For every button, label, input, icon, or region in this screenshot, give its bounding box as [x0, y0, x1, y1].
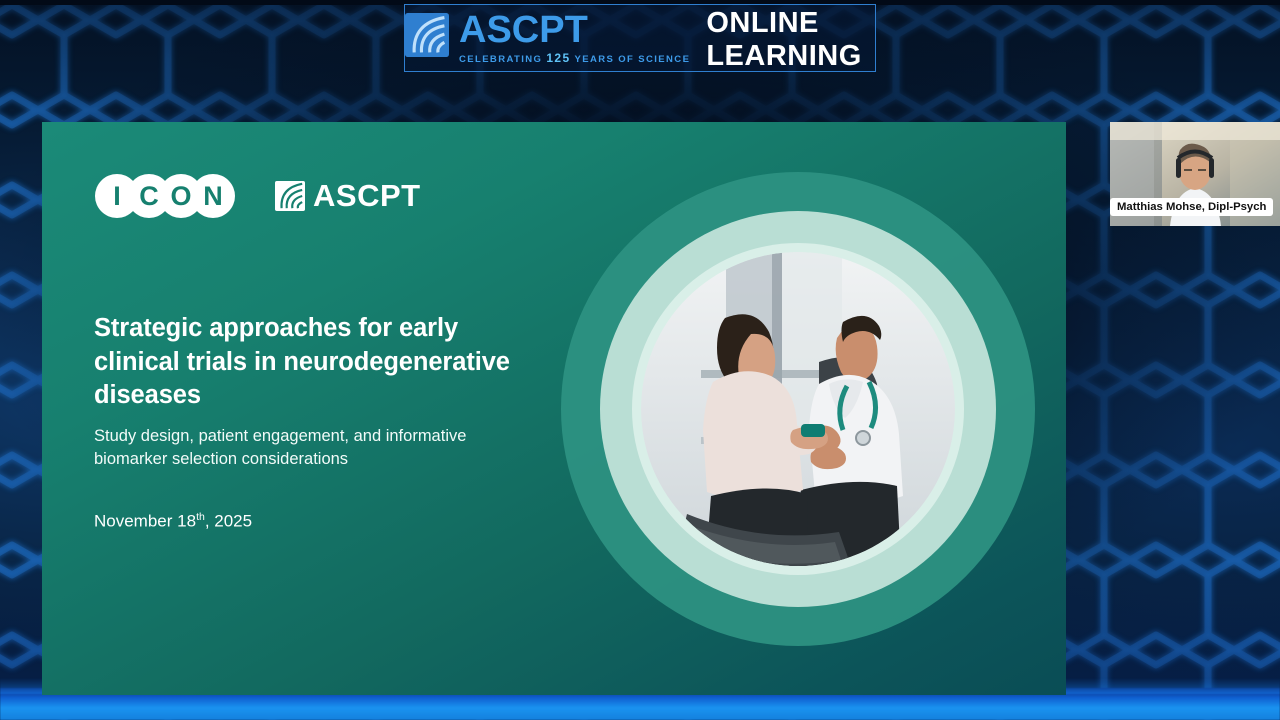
ascpt-slide-logo: ASCPT — [275, 178, 421, 214]
program-label: ONLINE LEARNING — [706, 7, 875, 73]
presenter-name-label: Matthias Mohse, Dipl-Psych — [1110, 198, 1273, 216]
ascpt-tagline: CELEBRATING 125 YEARS OF SCIENCE — [459, 51, 690, 65]
tagline-prefix: CELEBRATING — [459, 54, 542, 65]
ascpt-online-learning-banner: ASCPT CELEBRATING 125 YEARS OF SCIENCE O… — [404, 4, 876, 72]
date-text: November 18 — [94, 511, 196, 530]
slide-circular-graphic — [528, 140, 1066, 680]
date-ordinal: th — [196, 511, 205, 523]
slide-date: November 18th, 2025 — [94, 511, 534, 532]
ascpt-slide-wordmark: ASCPT — [313, 178, 421, 214]
slide-logo-row: I C O N ASCPT — [95, 174, 421, 218]
ascpt-wordmark: ASCPT — [459, 11, 690, 49]
icon-company-logo: I C O N — [95, 174, 233, 218]
slide-text-block: Strategic approaches for early clinical … — [94, 312, 534, 531]
icon-logo-letter-n: N — [191, 174, 235, 218]
tagline-suffix: YEARS OF SCIENCE — [574, 54, 690, 65]
presentation-slide: I C O N ASCPT Strategic approaches for e… — [42, 122, 1066, 695]
consultation-photo — [641, 252, 955, 566]
ascpt-swoosh-icon — [275, 181, 305, 211]
date-year: , 2025 — [205, 511, 252, 530]
ascpt-swoosh-icon — [405, 13, 449, 57]
consultation-photo-illustration — [641, 252, 955, 566]
slide-subtitle: Study design, patient engagement, and in… — [94, 425, 534, 471]
tagline-number: 125 — [546, 51, 570, 65]
page-title: Strategic approaches for early clinical … — [94, 312, 534, 413]
